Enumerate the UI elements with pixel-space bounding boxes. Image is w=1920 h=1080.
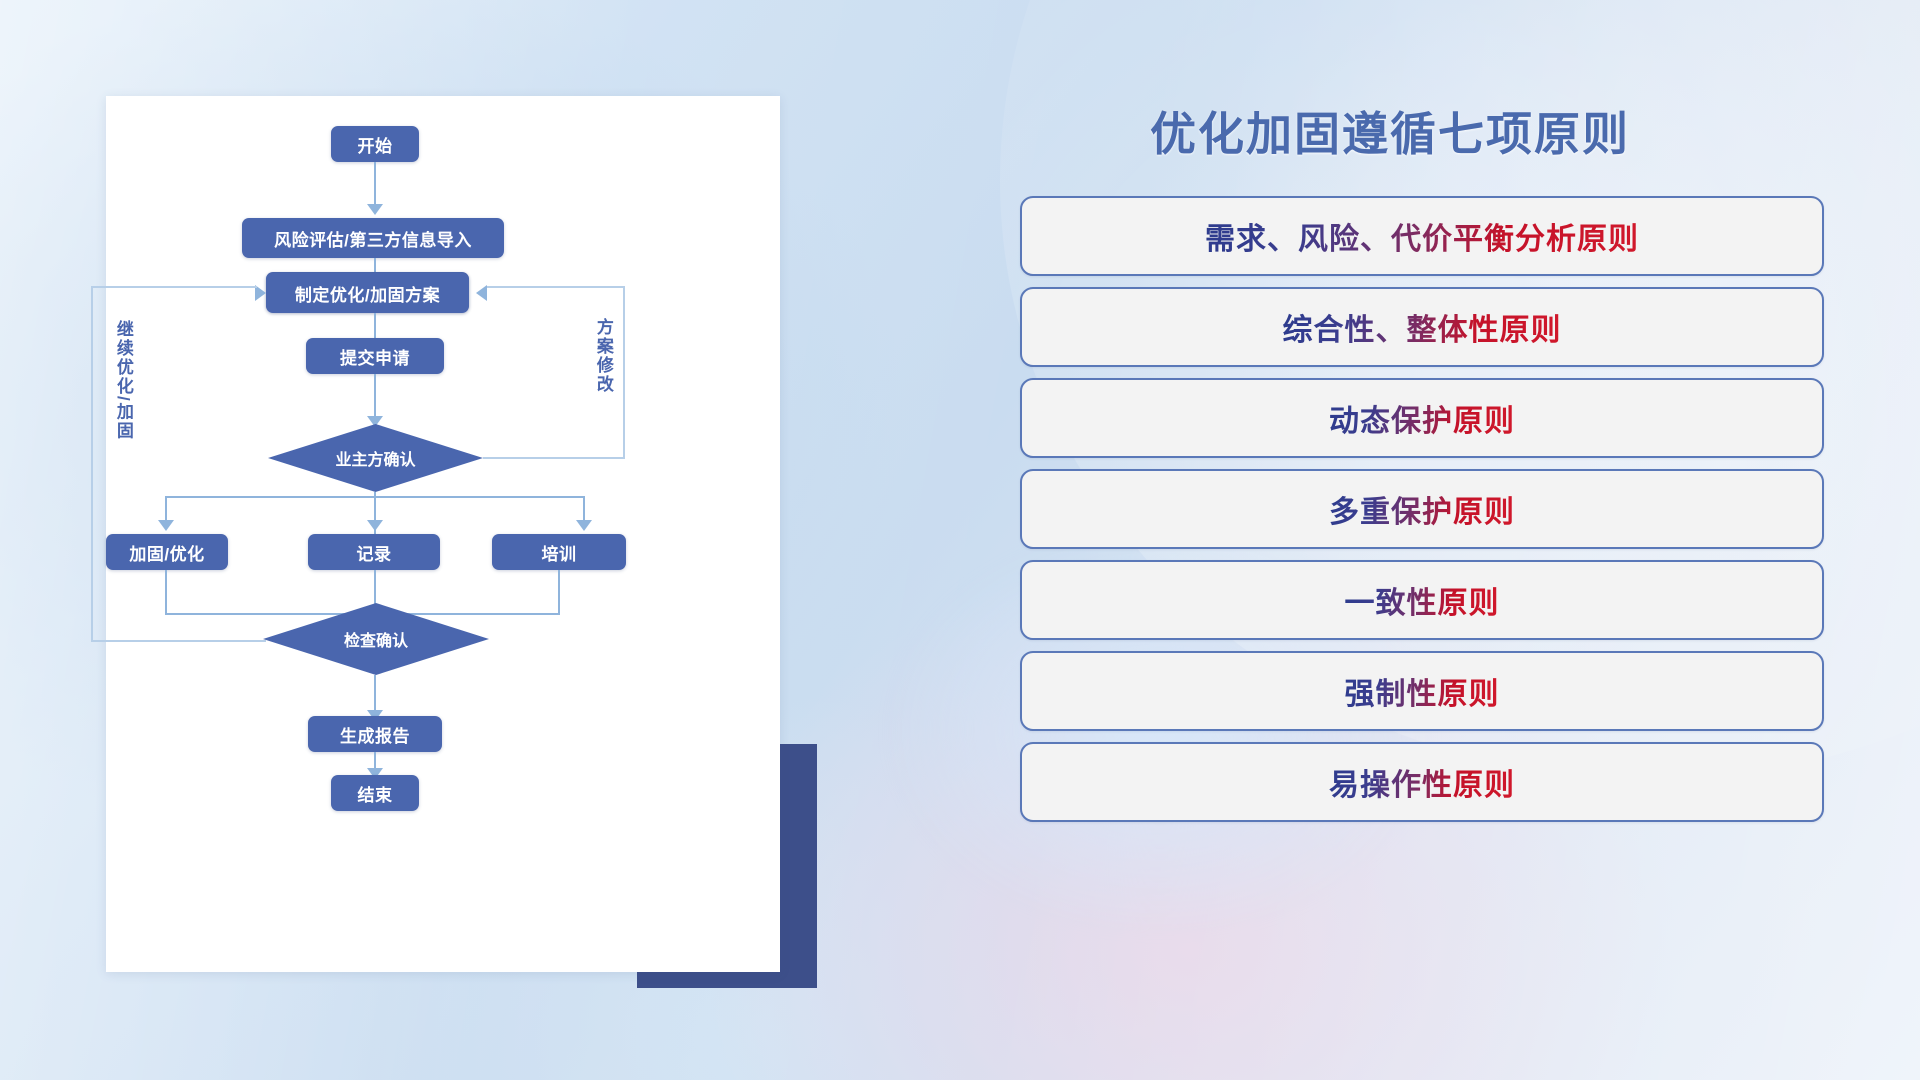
flow-node-training[interactable]: 培训 bbox=[492, 534, 626, 570]
flow-node-record[interactable]: 记录 bbox=[308, 534, 440, 570]
principle-label-7: 易操作性原则 bbox=[1329, 760, 1515, 804]
edge-right-loop-vertical bbox=[623, 286, 625, 458]
flow-node-training-label: 培训 bbox=[542, 540, 577, 565]
flow-node-generate-report[interactable]: 生成报告 bbox=[308, 716, 442, 752]
flow-node-owner-confirm[interactable]: 业主方确认 bbox=[268, 424, 483, 492]
edge-merge-right bbox=[558, 570, 560, 615]
flow-node-reinforce[interactable]: 加固/优化 bbox=[106, 534, 228, 570]
principle-card-5[interactable]: 一致性原则 bbox=[1020, 560, 1824, 640]
flow-node-generate-report-label: 生成报告 bbox=[340, 722, 410, 747]
edge-right-loop-top bbox=[487, 286, 625, 288]
flow-node-reinforce-label: 加固/优化 bbox=[129, 540, 204, 565]
flow-node-end[interactable]: 结束 bbox=[331, 775, 419, 811]
principle-label-1: 需求、风险、代价平衡分析原则 bbox=[1205, 214, 1639, 258]
principle-label-3: 动态保护原则 bbox=[1329, 396, 1515, 440]
flow-node-record-label: 记录 bbox=[357, 540, 392, 565]
arrowhead-down bbox=[367, 204, 383, 215]
principle-label-6: 强制性原则 bbox=[1345, 669, 1500, 713]
edge-left-loop-top bbox=[91, 286, 257, 288]
edge-check-to-left-loop bbox=[91, 640, 266, 642]
edge-merge-left bbox=[165, 570, 167, 615]
principle-label-4: 多重保护原则 bbox=[1329, 487, 1515, 531]
principle-label-2: 综合性、整体性原则 bbox=[1283, 305, 1562, 349]
principle-card-6[interactable]: 强制性原则 bbox=[1020, 651, 1824, 731]
flowchart-panel: 开始 风险评估/第三方信息导入 制定优化/加固方案 提交申请 业主方确认 继续优… bbox=[106, 96, 780, 972]
flow-node-submit-label: 提交申请 bbox=[340, 344, 410, 369]
edge-left-loop-vertical bbox=[91, 286, 93, 642]
flow-node-owner-confirm-label: 业主方确认 bbox=[335, 446, 415, 470]
principle-card-7[interactable]: 易操作性原则 bbox=[1020, 742, 1824, 822]
flow-node-start-label: 开始 bbox=[358, 132, 393, 157]
flow-node-submit[interactable]: 提交申请 bbox=[306, 338, 444, 374]
principle-card-4[interactable]: 多重保护原则 bbox=[1020, 469, 1824, 549]
flow-node-end-label: 结束 bbox=[358, 781, 393, 806]
flow-node-start[interactable]: 开始 bbox=[331, 126, 419, 162]
flow-node-check-confirm-label: 检查确认 bbox=[344, 627, 408, 651]
flow-node-make-plan-real[interactable]: 制定优化/加固方案 bbox=[266, 273, 469, 313]
page-title: 优化加固遵循七项原则 bbox=[1150, 98, 1630, 164]
principle-card-1[interactable]: 需求、风险、代价平衡分析原则 bbox=[1020, 196, 1824, 276]
edge-check-to-report bbox=[374, 675, 376, 715]
principle-card-2[interactable]: 综合性、整体性原则 bbox=[1020, 287, 1824, 367]
flow-node-risk-assessment[interactable]: 风险评估/第三方信息导入 bbox=[242, 218, 504, 258]
edge-submit-to-confirm bbox=[374, 374, 376, 422]
principles-panel: 优化加固遵循七项原则 需求、风险、代价平衡分析原则 综合性、整体性原则 动态保护… bbox=[1020, 70, 1860, 1020]
edge-start-to-risk bbox=[374, 162, 376, 209]
arrowhead-down bbox=[158, 520, 174, 531]
principle-label-5: 一致性原则 bbox=[1345, 578, 1500, 622]
edge-label-plan-revise: 方案修改 bbox=[594, 318, 612, 394]
principle-card-3[interactable]: 动态保护原则 bbox=[1020, 378, 1824, 458]
flow-node-risk-assessment-label: 风险评估/第三方信息导入 bbox=[274, 226, 472, 251]
arrowhead-down bbox=[367, 520, 383, 531]
flow-node-make-plan-label: 制定优化/加固方案 bbox=[295, 281, 440, 306]
edge-right-loop-bottom bbox=[483, 457, 625, 459]
arrowhead-left bbox=[476, 285, 487, 301]
arrowhead-down bbox=[576, 520, 592, 531]
edge-branch-bus bbox=[165, 496, 584, 498]
edge-label-continue-optimize: 继续优化/加固 bbox=[114, 320, 132, 441]
